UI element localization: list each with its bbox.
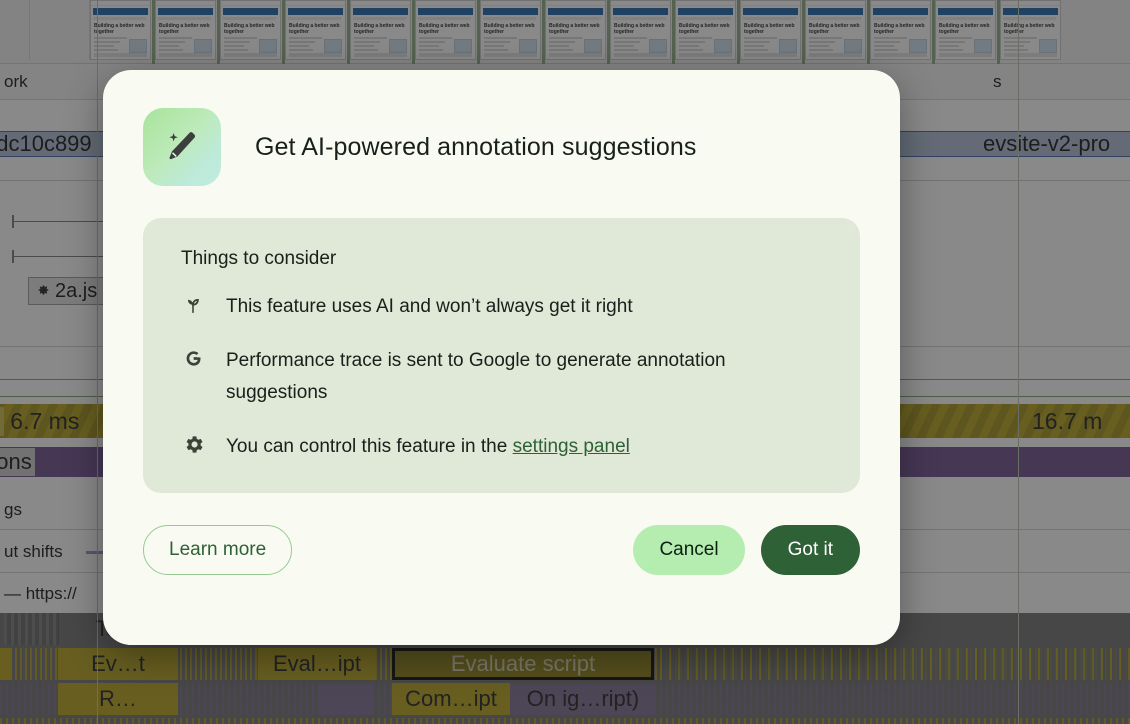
magic-wand-sparkle-icon: [143, 108, 221, 186]
sprout-icon: [181, 292, 205, 316]
list-item-text: Performance trace is sent to Google to g…: [226, 345, 826, 409]
things-to-consider-heading: Things to consider: [181, 248, 826, 270]
list-item: You can control this feature in the sett…: [181, 431, 826, 463]
list-item: This feature uses AI and won’t always ge…: [181, 291, 826, 323]
dialog-header: Get AI-powered annotation suggestions: [143, 108, 860, 186]
list-item-text-prefix: You can control this feature in the: [226, 436, 513, 457]
learn-more-button[interactable]: Learn more: [143, 525, 292, 575]
list-item-text: This feature uses AI and won’t always ge…: [226, 291, 633, 323]
list-item: Performance trace is sent to Google to g…: [181, 345, 826, 409]
screen: Building a better web together Building …: [0, 0, 1130, 724]
things-to-consider-list: This feature uses AI and won’t always ge…: [181, 291, 826, 463]
cancel-button[interactable]: Cancel: [633, 525, 744, 575]
things-to-consider-box: Things to consider This feature uses AI …: [143, 218, 860, 493]
gear-icon: [181, 432, 205, 456]
google-g-icon: [181, 346, 205, 370]
dialog-title: Get AI-powered annotation suggestions: [255, 133, 697, 162]
ai-annotation-suggestions-dialog: Get AI-powered annotation suggestions Th…: [103, 70, 900, 645]
list-item-text: You can control this feature in the sett…: [226, 431, 630, 463]
dialog-actions: Learn more Cancel Got it: [143, 525, 860, 575]
got-it-button[interactable]: Got it: [761, 525, 860, 575]
settings-panel-link[interactable]: settings panel: [513, 436, 630, 457]
